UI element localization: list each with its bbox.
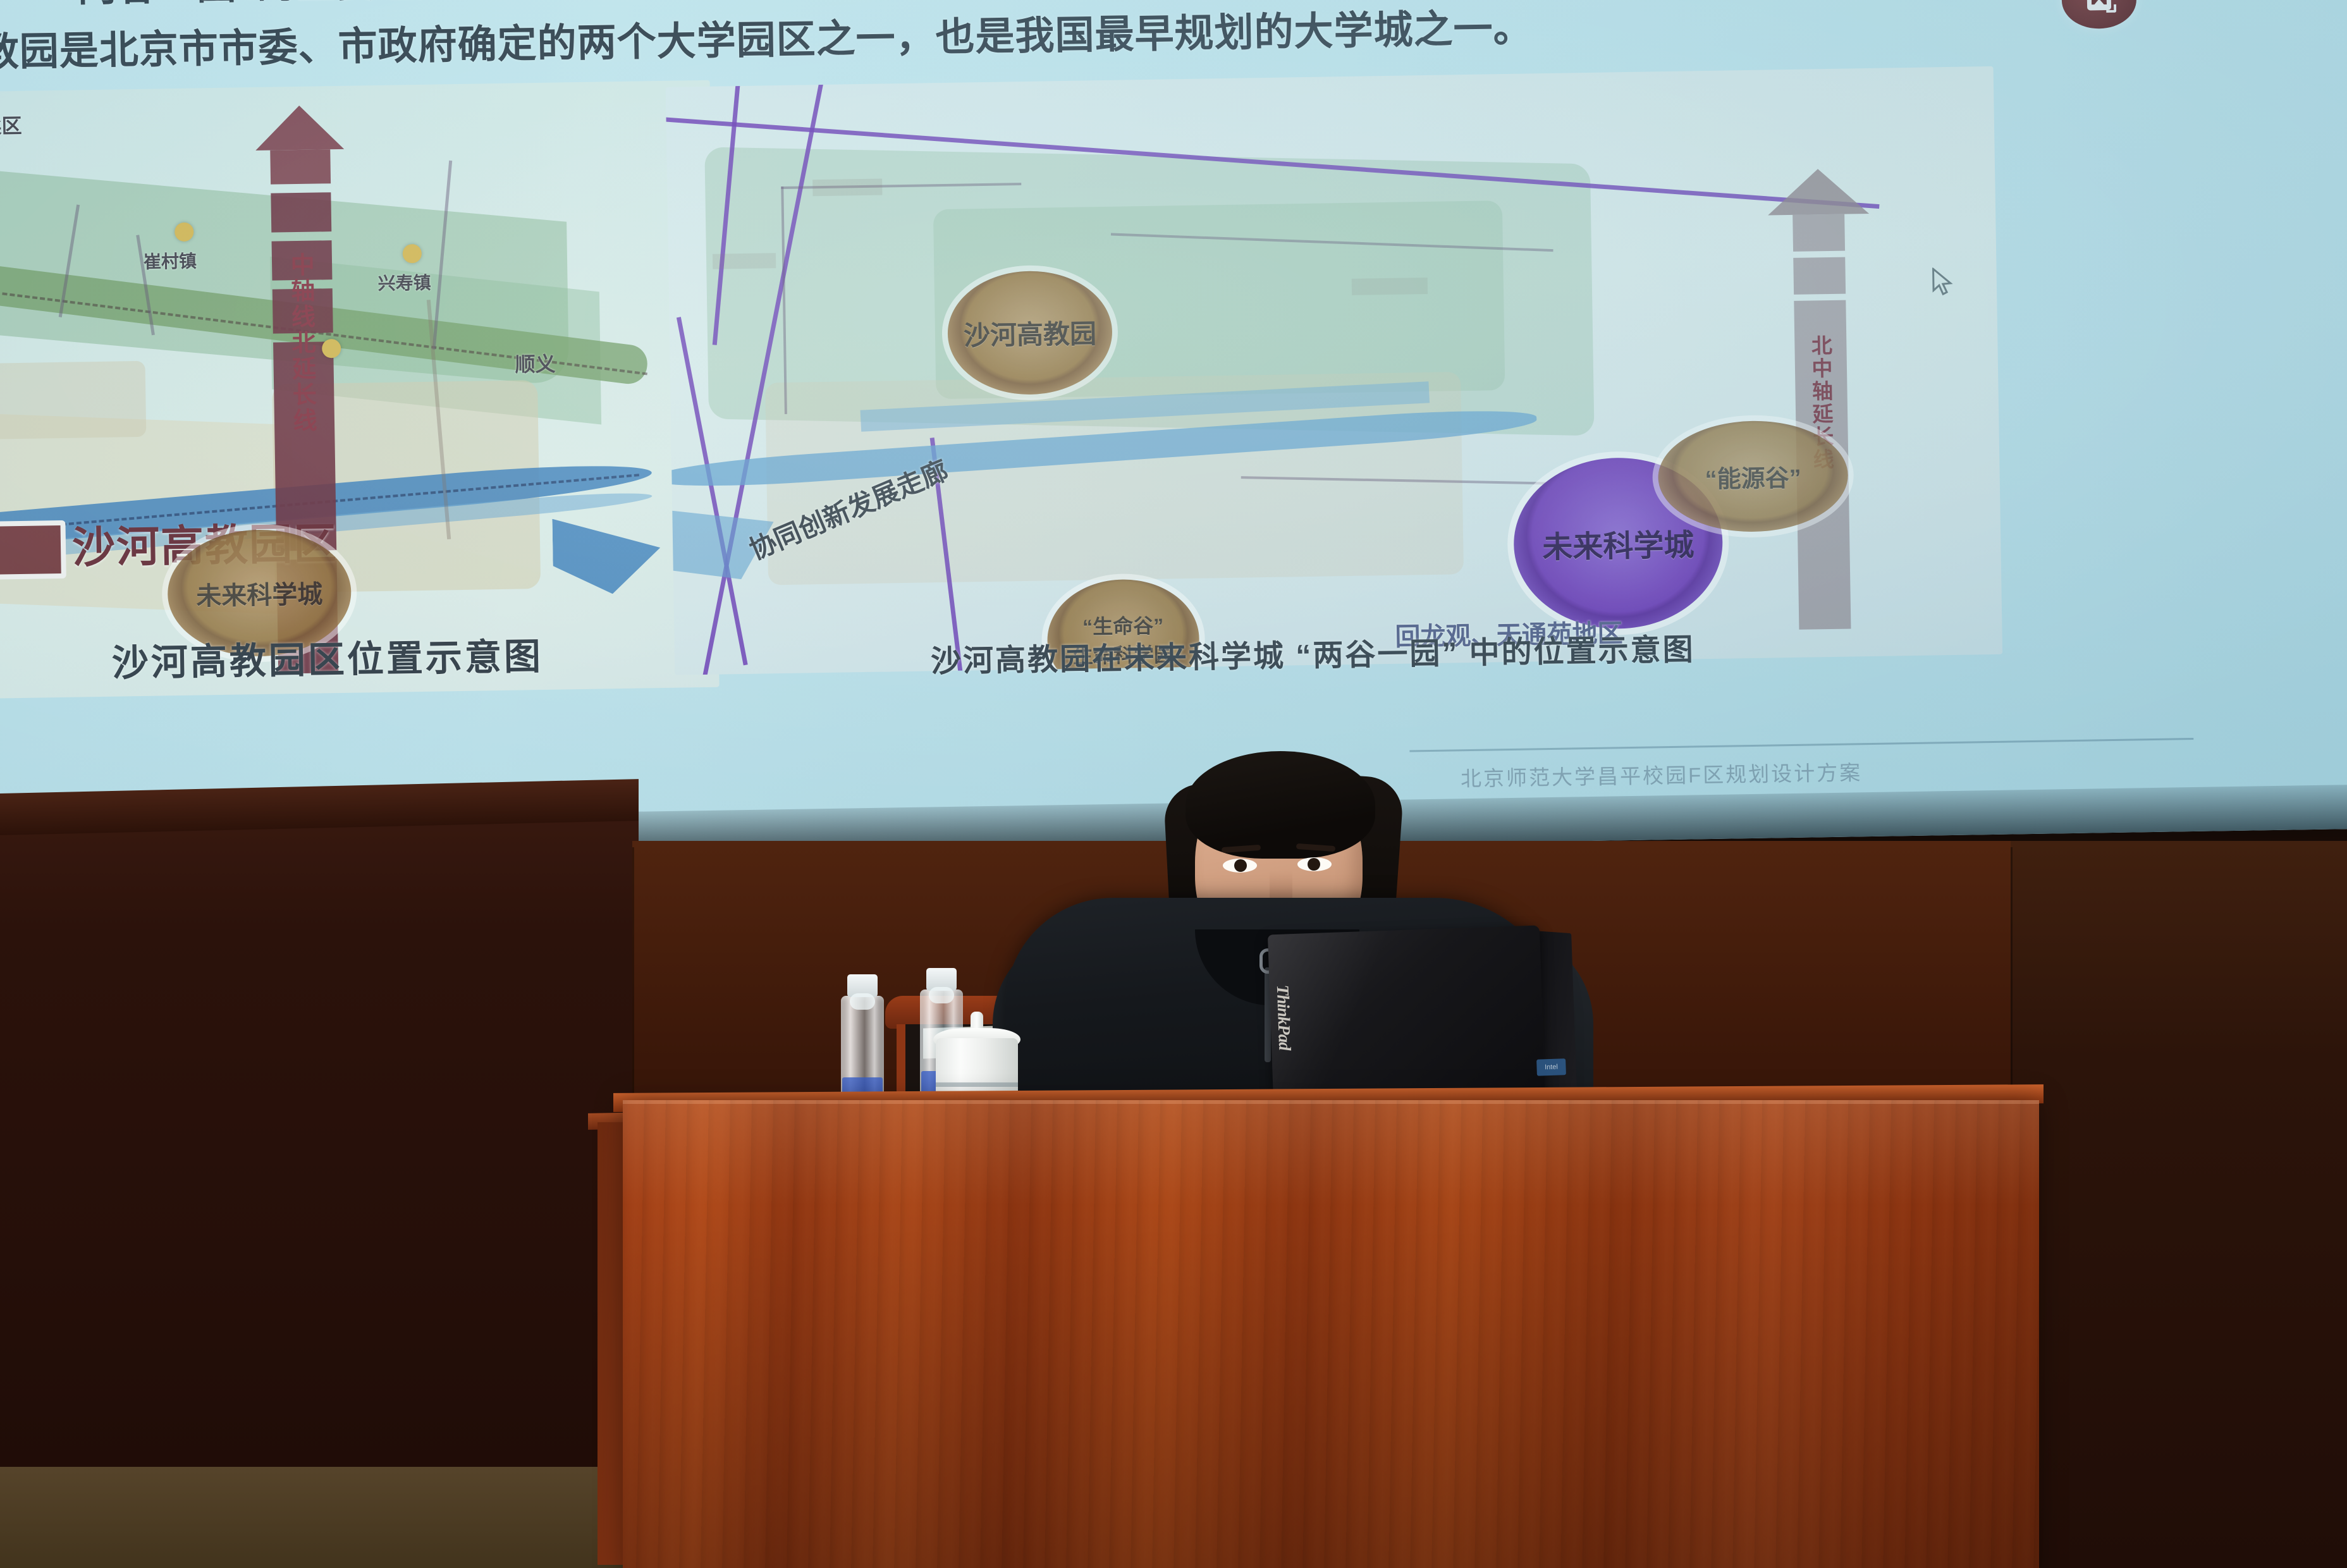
map-left-caption: 沙河高教园区位置示意图 (111, 627, 543, 687)
map-shahe-location-overview: 崔村镇 兴寿镇 怀柔区 顺义 昌平新城 沙河高教园区 中轴线北延长线 未来科学城 (0, 80, 720, 701)
mouse-cursor-icon (1932, 267, 1954, 297)
map-left-label-cuicun: 崔村镇 (144, 248, 197, 274)
wall-panel-right (2011, 841, 2347, 1568)
wall-panel-left (0, 793, 639, 1568)
screenshot-root: “两谷一园”的重要组成部分，是保障北京国际科创中心 略的重要支点，于2001年正… (0, 0, 2347, 1568)
thinkpad-brand-label: ThinkPad (1273, 984, 1295, 1050)
map-left-label-huairou: 怀柔区 (0, 110, 22, 140)
map-left-label-central-axis: 中轴线北延长线 (283, 252, 321, 434)
floor (0, 1467, 639, 1568)
map-shahe-in-future-science-city: 北中轴延长线 沙河高教园 未来科学城 “生命谷” 生命科学园 “能源谷” (666, 66, 2002, 675)
projection-screen: “两谷一园”的重要组成部分，是保障北京国际科创中心 略的重要支点，于2001年正… (0, 0, 2347, 866)
hair-top (1186, 751, 1375, 859)
pupil-left (1234, 859, 1247, 872)
slide-text-line-two: 河高教园是北京市市委、市政府确定的两个大学园区之一，也是我国最早规划的大学城之一… (0, 0, 1533, 78)
map-left-legend-swatch (0, 520, 66, 580)
mug-stripe (936, 1082, 1018, 1087)
map-left-badge-huilongguan-ring (239, 699, 335, 700)
map-left-label-xingshou: 兴寿镇 (377, 269, 431, 295)
pupil-right (1308, 858, 1320, 871)
map-left-label-shunyi: 顺义 (515, 348, 556, 378)
wooden-podium (623, 1100, 2039, 1568)
podium-shading (623, 1100, 2039, 1568)
projected-slide: “两谷一园”的重要组成部分，是保障北京国际科创中心 略的重要支点，于2001年正… (0, 0, 2347, 866)
podium-wood-grain (623, 1100, 2039, 1568)
laptop-sticker: Intel (1536, 1058, 1566, 1076)
media-badge-logo-icon (2061, 0, 2136, 29)
laptop-lid: ThinkPad (1268, 925, 1545, 1108)
